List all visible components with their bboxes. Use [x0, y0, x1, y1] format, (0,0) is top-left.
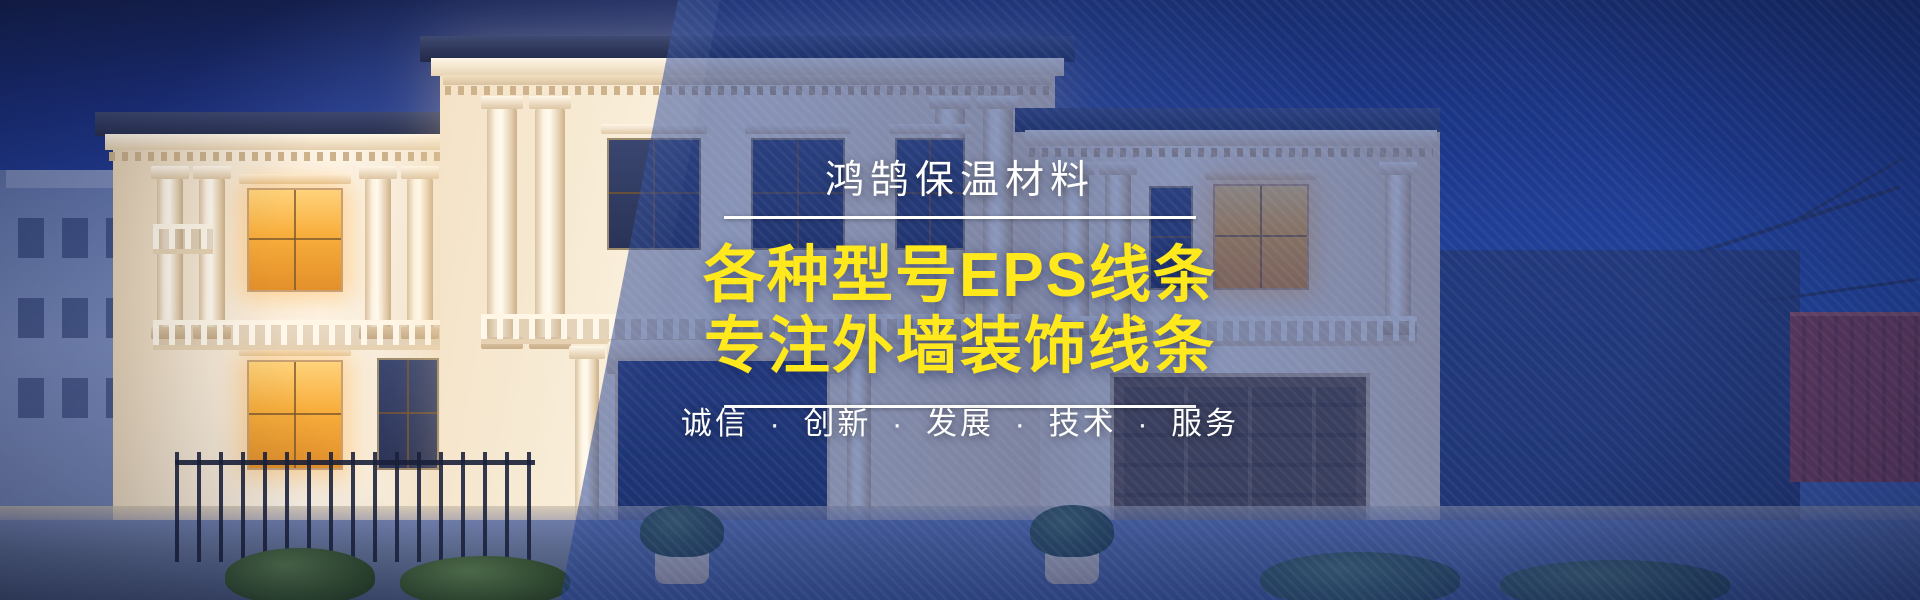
tagline-separator: · [1137, 406, 1150, 441]
tagline-separator: · [769, 406, 782, 441]
headline-line-2: 专注外墙装饰线条 [703, 312, 1217, 383]
tagline-separator: · [1015, 406, 1028, 441]
hero-banner: 鸿鹄保温材料 各种型号EPS线条 专注外墙装饰线条 诚信 · 创新 · 发展 ·… [0, 0, 1920, 600]
tagline-separator: · [892, 406, 905, 441]
divider-line-top [724, 216, 1196, 219]
tagline-item-4: 技术 [1049, 406, 1117, 441]
brand-name: 鸿鹄保温材料 [825, 161, 1095, 200]
tagline-item-3: 发展 [926, 406, 994, 441]
headline-line-1: 各种型号EPS线条 [703, 241, 1217, 312]
banner-text-block: 鸿鹄保温材料 各种型号EPS线条 专注外墙装饰线条 诚信 · 创新 · 发展 ·… [0, 0, 1920, 600]
tagline: 诚信 · 创新 · 发展 · 技术 · 服务 [681, 408, 1239, 439]
tagline-item-1: 诚信 [681, 406, 749, 441]
headline: 各种型号EPS线条 专注外墙装饰线条 [703, 241, 1217, 382]
tagline-item-2: 创新 [803, 406, 871, 441]
tagline-item-5: 服务 [1171, 406, 1239, 441]
